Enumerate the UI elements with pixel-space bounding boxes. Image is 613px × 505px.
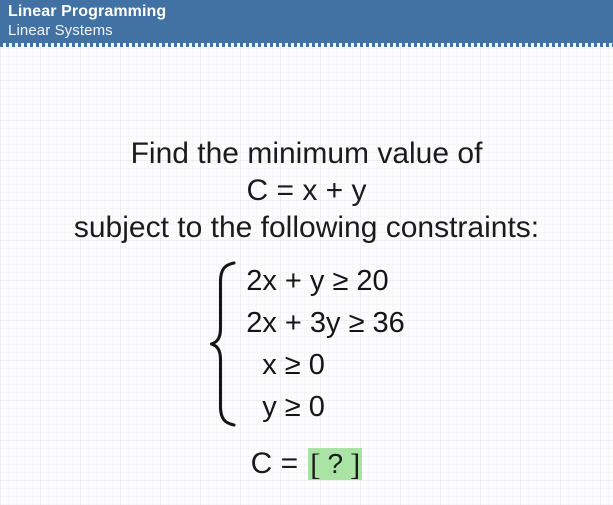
page-title: Linear Programming xyxy=(8,2,613,21)
close-bracket: ] xyxy=(350,449,360,480)
objective-function: C = x + y xyxy=(0,174,613,208)
answer-value[interactable]: ? xyxy=(320,449,350,479)
page-subtitle: Linear Systems xyxy=(8,21,613,41)
answer-label: C = xyxy=(251,447,299,481)
answer-input-box[interactable]: [ ? ] xyxy=(308,448,362,480)
constraint-system: 2x + y ≥ 20 2x + 3y ≥ 36 x ≥ 0 y ≥ 0 xyxy=(0,260,613,428)
header-bar: Linear Programming Linear Systems xyxy=(0,0,613,47)
worksheet-page: Linear Programming Linear Systems Find t… xyxy=(0,0,613,505)
problem-prompt-line-2: subject to the following constraints: xyxy=(0,211,613,245)
problem-prompt-line-1: Find the minimum value of xyxy=(0,137,613,171)
answer-row: C = [ ? ] xyxy=(0,447,613,481)
constraint-row: y ≥ 0 xyxy=(246,386,405,428)
constraint-row: 2x + 3y ≥ 36 xyxy=(246,302,405,344)
constraint-row: 2x + y ≥ 20 xyxy=(246,260,405,302)
open-bracket: [ xyxy=(310,449,320,480)
constraint-row: x ≥ 0 xyxy=(246,344,405,386)
left-curly-brace-icon xyxy=(208,260,242,428)
problem-body: Find the minimum value of C = x + y subj… xyxy=(0,47,613,505)
